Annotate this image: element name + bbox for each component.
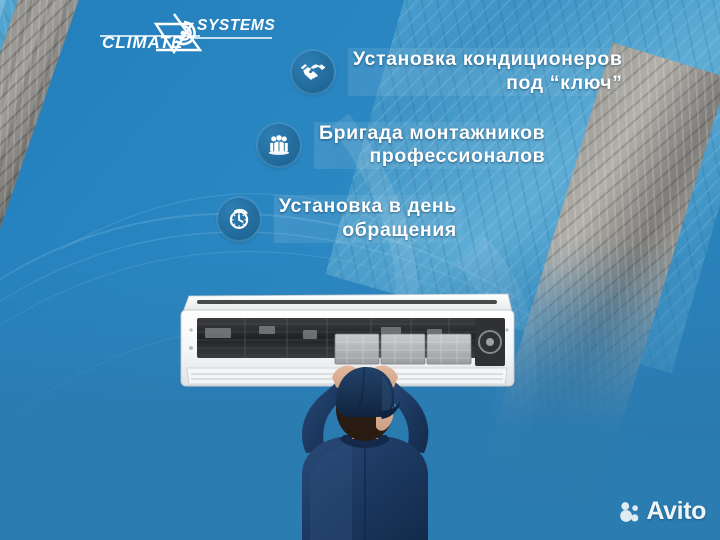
promo-banner: CLIMATE SYSTEMS Установка — [0, 0, 720, 540]
feature-line-1: Бригада монтажников — [314, 122, 550, 146]
technician-figure — [240, 355, 490, 540]
feature-line-2: профессионалов — [314, 145, 550, 169]
handshake-icon — [292, 51, 334, 93]
feature-line-2: обращения — [274, 219, 462, 243]
logo-word-systems: SYSTEMS — [197, 17, 275, 34]
avito-dots-icon — [619, 501, 641, 523]
avito-watermark: Avito — [619, 497, 706, 526]
feature-line-2: под “ключ” — [348, 72, 628, 96]
feature-text: Бригада монтажников профессионалов — [314, 122, 550, 170]
group-of-people-icon — [258, 124, 300, 166]
feature-list: Установка кондиционеров под “ключ” — [0, 48, 720, 269]
feature-line-1: Установка в день — [274, 195, 462, 219]
feature-text: Установка кондиционеров под “ключ” — [348, 48, 628, 96]
avito-label: Avito — [646, 497, 706, 526]
feature-item-professional-team: Бригада монтажников профессионалов — [0, 122, 720, 170]
feature-item-same-day-installation: Установка в день обращения — [0, 195, 720, 243]
clock-fast-icon — [218, 198, 260, 240]
feature-item-turnkey-installation: Установка кондиционеров под “ключ” — [0, 48, 720, 96]
feature-text: Установка в день обращения — [274, 195, 462, 243]
feature-line-1: Установка кондиционеров — [348, 48, 628, 72]
